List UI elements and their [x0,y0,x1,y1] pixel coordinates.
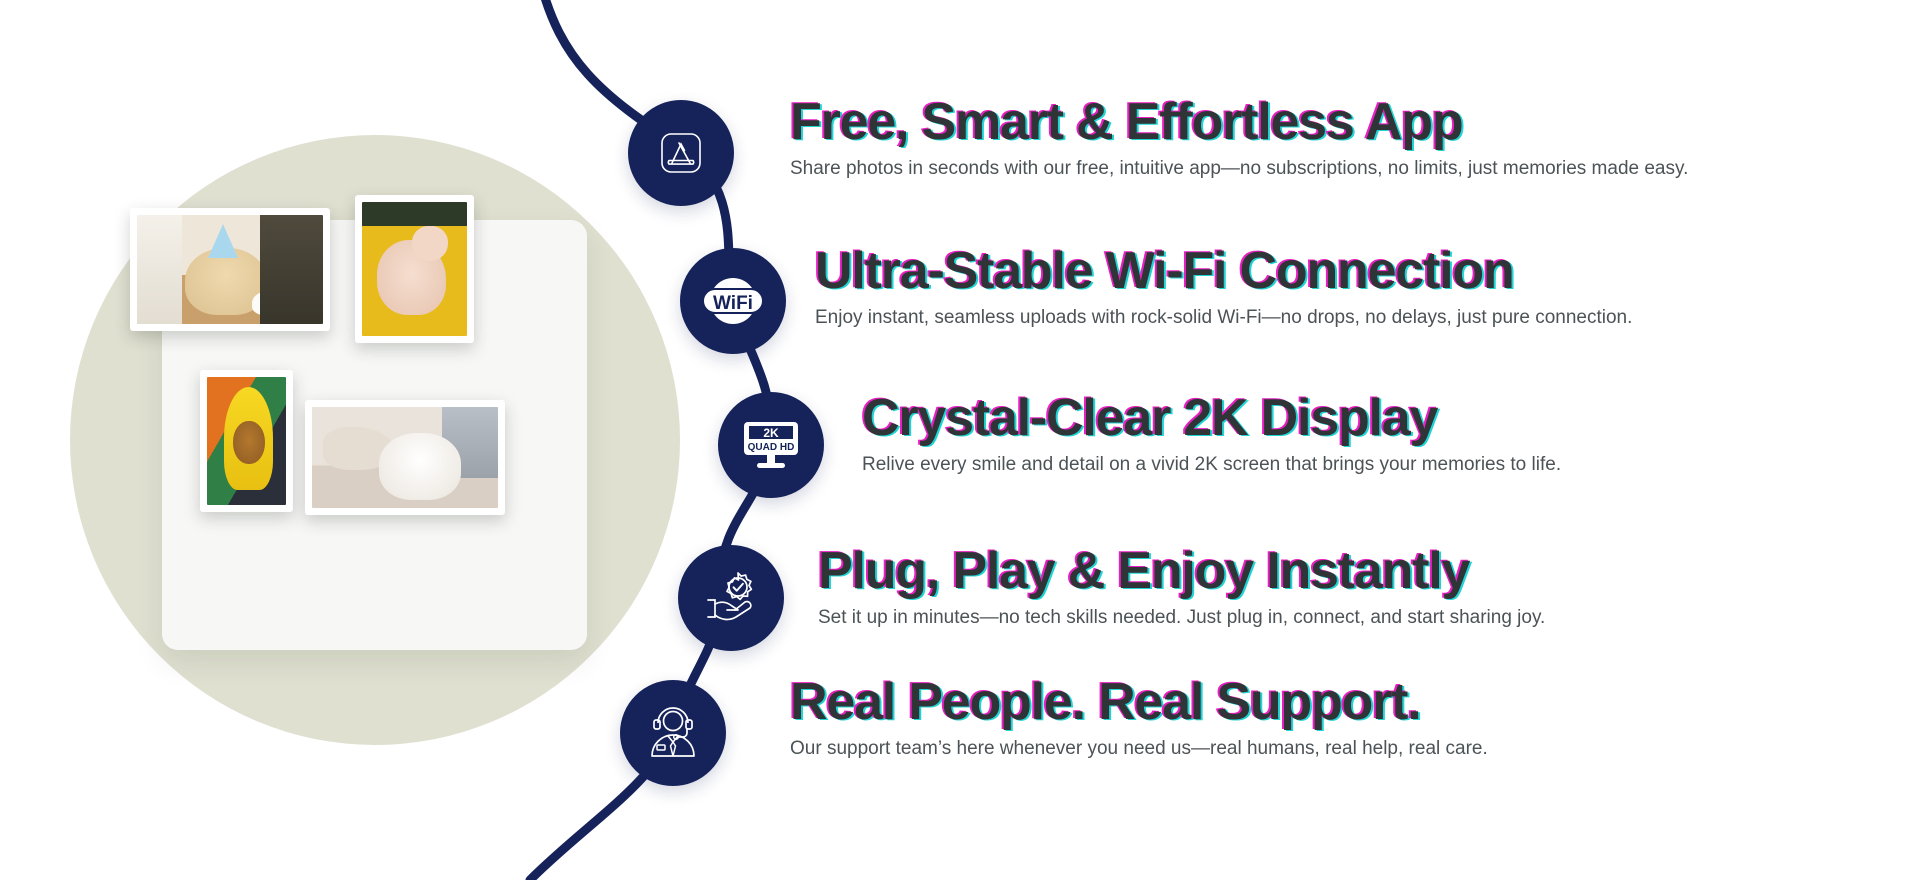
feature-icon-support[interactable] [620,680,726,786]
app-store-icon [655,127,707,179]
feature-title: Ultra-Stable Wi-Fi Connection [815,245,1632,297]
feature-subtitle: Share photos in seconds with our free, i… [790,157,1688,181]
feature-text-2: Ultra-Stable Wi-Fi Connection Enjoy inst… [815,245,1632,330]
feature-subtitle: Set it up in minutes—no tech skills need… [818,606,1545,630]
feature-text-1: Free, Smart & Effortless App Share photo… [790,96,1688,181]
feature-text-4: Plug, Play & Enjoy Instantly Set it up i… [818,545,1545,630]
feature-title: Plug, Play & Enjoy Instantly [818,545,1545,597]
photo-frame-banana-cat [200,370,293,512]
feature-icon-plug-play[interactable] [678,545,784,651]
feature-subtitle: Relive every smile and detail on a vivid… [862,453,1561,477]
feature-title: Crystal-Clear 2K Display [862,392,1561,444]
feature-text-5: Real People. Real Support. Our support t… [790,676,1488,761]
wifi-icon: WiFi [700,275,766,327]
feature-subtitle: Our support team’s here whenever you nee… [790,737,1488,761]
support-agent-headset-icon [643,703,703,763]
hand-badge-check-icon [700,569,762,627]
photo-frame-persian-cat [305,400,505,515]
product-visual [70,135,680,745]
feature-text-3: Crystal-Clear 2K Display Relive every sm… [862,392,1561,477]
feature-title: Real People. Real Support. [790,676,1488,728]
feature-icon-app-store[interactable] [628,100,734,206]
feature-icon-wifi[interactable]: WiFi [680,248,786,354]
photo-frame-dog-birthday [130,208,330,331]
wifi-icon-label: WiFi [713,293,753,314]
monitor-2k-icon: 2K QUAD HD [738,415,804,475]
photo-frame-sphynx-cat [355,195,474,343]
monitor-icon-label-secondary: QUAD HD [748,442,795,453]
monitor-icon-label-primary: 2K [763,426,779,440]
feature-icon-display-2k[interactable]: 2K QUAD HD [718,392,824,498]
feature-list-page: Free, Smart & Effortless App Share photo… [0,0,1920,880]
feature-subtitle: Enjoy instant, seamless uploads with roc… [815,306,1632,330]
feature-title: Free, Smart & Effortless App [790,96,1688,148]
